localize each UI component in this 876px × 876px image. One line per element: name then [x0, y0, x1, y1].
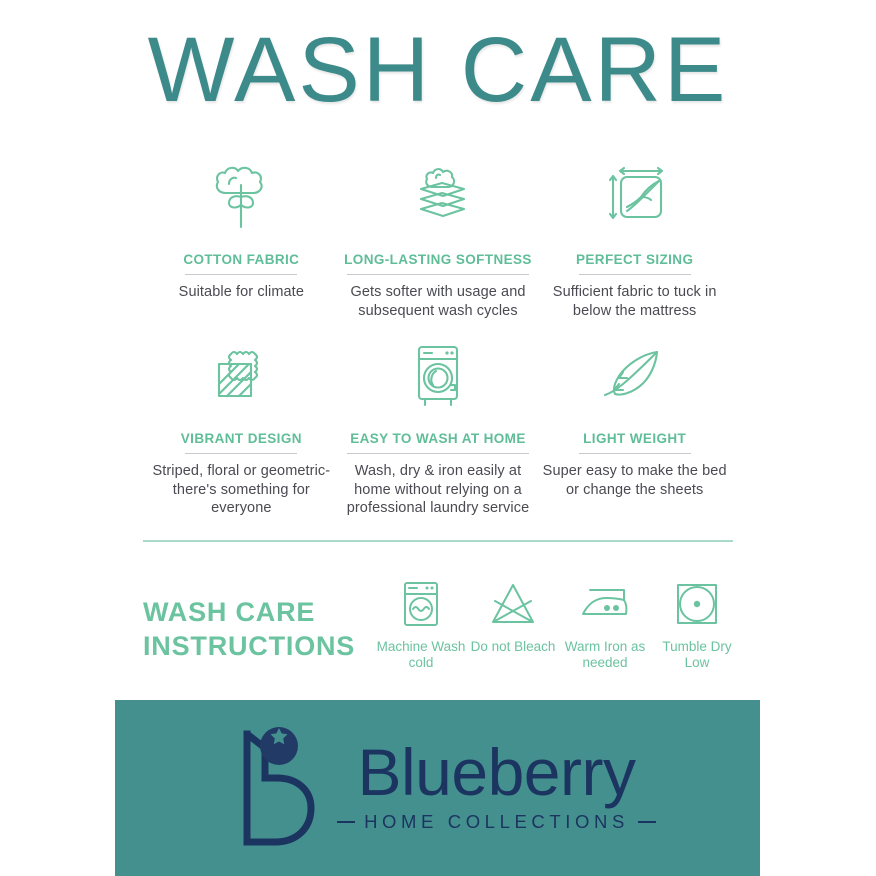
- blueberry-b-logo-icon: [235, 718, 331, 855]
- feature-light-weight: LIGHT WEIGHT Super easy to make the bed …: [536, 339, 733, 519]
- brand-lockup: Blueberry HOME COLLECTIONS: [235, 718, 656, 855]
- mattress-measure-icon: [599, 160, 671, 236]
- feature-description: Super easy to make the bed or change the…: [540, 462, 729, 500]
- care-symbol-label: Tumble Dry Low: [651, 639, 743, 672]
- brand-name: Blueberry: [358, 739, 636, 805]
- tumble-dry-icon: [675, 578, 719, 630]
- warm-iron-icon: [578, 578, 632, 630]
- section-divider: [143, 540, 733, 542]
- feature-title: EASY TO WASH AT HOME: [350, 431, 526, 446]
- feature-description: Gets softer with usage and subsequent wa…: [344, 283, 533, 321]
- instructions-heading: WASH CARE INSTRUCTIONS: [143, 578, 371, 664]
- feature-rule: [347, 274, 529, 275]
- feature-rule: [579, 274, 691, 275]
- care-symbol-tumble-dry: Tumble Dry Low: [651, 578, 743, 672]
- brand-footer-bar: Blueberry HOME COLLECTIONS: [115, 700, 760, 876]
- feature-description: Sufficient fabric to tuck in below the m…: [540, 283, 729, 321]
- feature-description: Wash, dry & iron easily at home without …: [344, 462, 533, 519]
- feature-description: Striped, floral or geometric-there's som…: [147, 462, 336, 519]
- feature-grid: COTTON FABRIC Suitable for climate LONG-…: [143, 160, 733, 518]
- feature-rule: [185, 453, 297, 454]
- feature-description: Suitable for climate: [179, 283, 304, 302]
- care-symbol-warm-iron: Warm Iron as needed: [559, 578, 651, 672]
- page-title-container: WASH CARE: [0, 22, 876, 119]
- care-symbol-machine-wash: Machine Wash cold: [375, 578, 467, 672]
- page-title: WASH CARE: [0, 22, 876, 119]
- care-symbol-label: Do not Bleach: [471, 639, 556, 655]
- machine-wash-icon: [400, 578, 442, 630]
- brand-wordmark: Blueberry HOME COLLECTIONS: [337, 739, 656, 833]
- do-not-bleach-icon: [489, 578, 537, 630]
- feature-title: LONG-LASTING SOFTNESS: [344, 252, 532, 267]
- washing-machine-icon: [403, 339, 473, 415]
- care-symbol-do-not-bleach: Do not Bleach: [467, 578, 559, 672]
- feature-rule: [579, 453, 691, 454]
- feather-icon: [597, 339, 673, 415]
- instructions-heading-line1: WASH CARE: [143, 596, 371, 630]
- feature-rule: [347, 453, 529, 454]
- patterned-fabric-icon: [205, 339, 277, 415]
- layered-fabric-icon: [398, 160, 478, 236]
- brand-tagline: HOME COLLECTIONS: [364, 811, 629, 833]
- feature-title: PERFECT SIZING: [576, 252, 693, 267]
- wash-care-infographic: WASH CARE COTTON FABRIC Suitable for cli…: [0, 0, 876, 876]
- care-symbols-list: Machine Wash cold Do not Bleach: [371, 578, 743, 672]
- tagline-dash-left: [337, 821, 355, 823]
- feature-title: LIGHT WEIGHT: [583, 431, 686, 446]
- feature-cotton-fabric: COTTON FABRIC Suitable for climate: [143, 160, 340, 321]
- feature-title: COTTON FABRIC: [183, 252, 299, 267]
- tagline-dash-right: [638, 821, 656, 823]
- care-symbol-label: Warm Iron as needed: [559, 639, 651, 672]
- cotton-plant-icon: [207, 160, 275, 236]
- feature-rule: [185, 274, 297, 275]
- care-symbol-label: Machine Wash cold: [375, 639, 467, 672]
- instructions-heading-line2: INSTRUCTIONS: [143, 630, 371, 664]
- wash-care-instructions-section: WASH CARE INSTRUCTIONS Machine Wash: [143, 578, 743, 672]
- feature-perfect-sizing: PERFECT SIZING Sufficient fabric to tuck…: [536, 160, 733, 321]
- brand-tagline-row: HOME COLLECTIONS: [337, 811, 656, 833]
- feature-long-lasting-softness: LONG-LASTING SOFTNESS Gets softer with u…: [340, 160, 537, 321]
- feature-vibrant-design: VIBRANT DESIGN Striped, floral or geomet…: [143, 339, 340, 519]
- feature-easy-to-wash: EASY TO WASH AT HOME Wash, dry & iron ea…: [340, 339, 537, 519]
- feature-title: VIBRANT DESIGN: [181, 431, 302, 446]
